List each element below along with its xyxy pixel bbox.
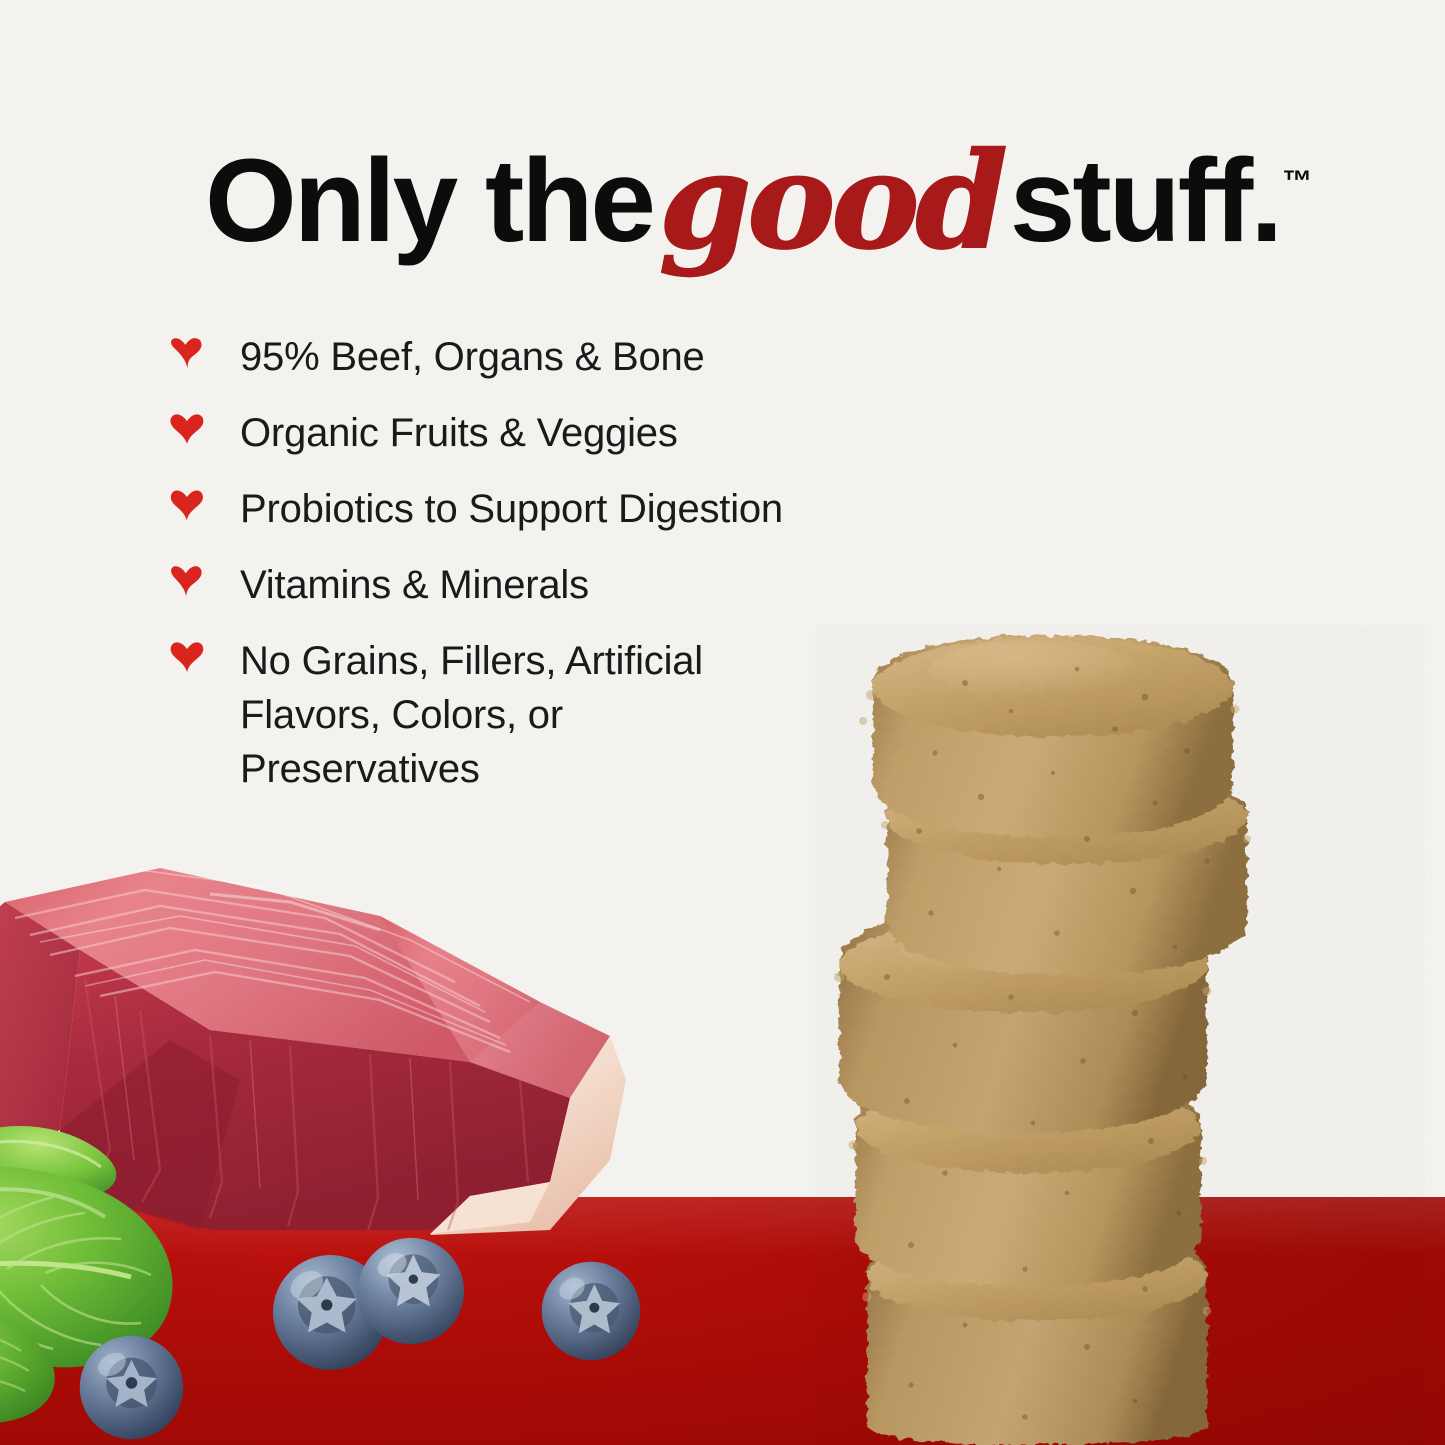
blueberry [74,1330,189,1445]
freeze-dried-patty-stack [815,625,1425,1445]
heart-icon [170,406,210,445]
list-item: Vitamins & Minerals [170,558,970,612]
headline-part2: stuff. [1010,135,1280,267]
list-item-label: Probiotics to Support Digestion [210,482,783,536]
heart-icon [170,634,210,673]
blueberry [535,1255,647,1367]
headline: Only thegoodstuff.™ [205,118,1325,268]
list-item-label: No Grains, Fillers, Artificial Flavors, … [210,634,703,796]
list-item-label: 95% Beef, Organs & Bone [210,330,705,384]
heart-icon [170,330,210,369]
list-item: Organic Fruits & Veggies [170,406,970,460]
list-item-label: Organic Fruits & Veggies [210,406,678,460]
heart-icon [170,482,210,521]
blueberry [352,1232,470,1350]
list-item: Probiotics to Support Digestion [170,482,970,536]
headline-emphasis-good: good [653,124,1010,279]
list-item: 95% Beef, Organs & Bone [170,330,970,384]
list-item-label: Vitamins & Minerals [210,558,589,612]
trademark-symbol: ™ [1282,165,1312,198]
heart-icon [170,558,210,597]
product-marketing-image: Only thegoodstuff.™ 95% Beef, Organs & B… [0,0,1445,1445]
headline-part1: Only the [205,135,653,267]
